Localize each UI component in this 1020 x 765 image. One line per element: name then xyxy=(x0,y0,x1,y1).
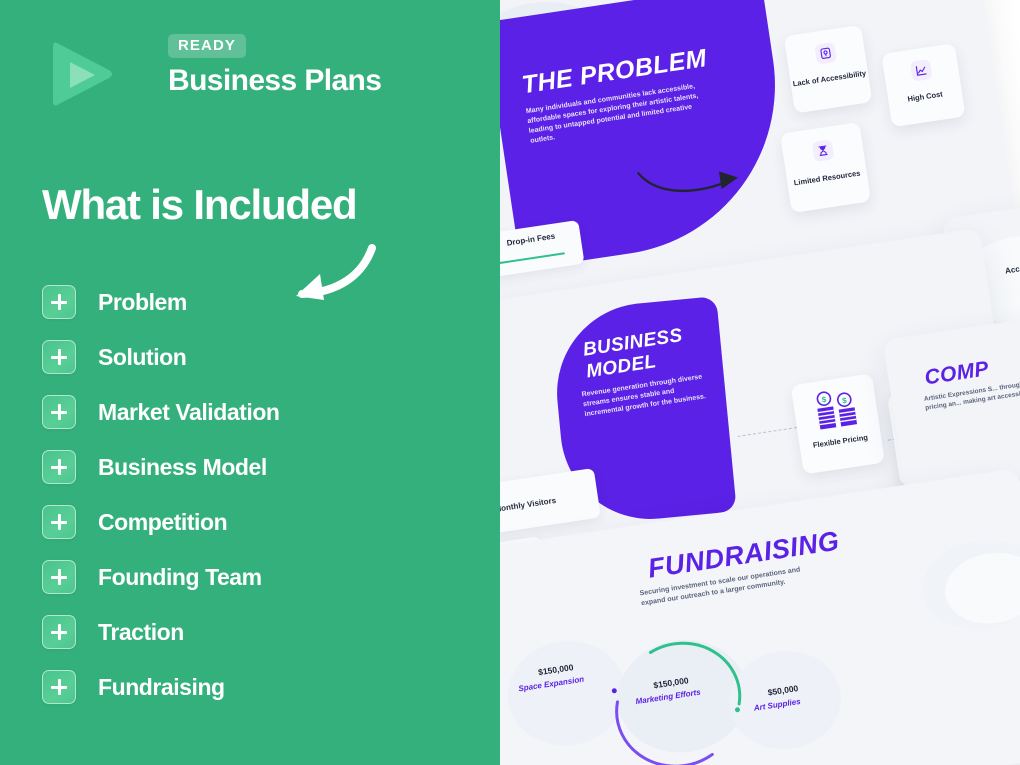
line-chart-icon xyxy=(910,59,933,82)
plus-icon xyxy=(42,340,76,374)
plus-icon xyxy=(42,560,76,594)
play-triangle-icon xyxy=(46,38,116,110)
plus-icon xyxy=(42,285,76,319)
list-item[interactable]: Competition xyxy=(42,502,462,542)
list-item-label: Traction xyxy=(98,619,184,646)
brand-title: Business Plans xyxy=(168,65,381,97)
connector-dashed-line xyxy=(737,427,796,437)
plus-icon xyxy=(42,615,76,649)
mini-card-limited-resources[interactable]: Limited Resources xyxy=(780,122,871,213)
list-item-label: Problem xyxy=(98,289,187,316)
bar-card-label: Monthly Visitors xyxy=(500,496,557,514)
list-item[interactable]: Fundraising xyxy=(42,667,462,707)
brand-text-block: READY Business Plans xyxy=(168,34,381,96)
svg-text:$: $ xyxy=(842,396,848,406)
list-item[interactable]: Traction xyxy=(42,612,462,652)
list-item[interactable]: Solution xyxy=(42,337,462,377)
bar-card-label: Drop-in Fees xyxy=(506,232,556,248)
mini-card-flexible-pricing[interactable]: $ $ Flexible Pricing xyxy=(791,373,885,474)
list-item[interactable]: Business Model xyxy=(42,447,462,487)
list-item-label: Fundraising xyxy=(98,674,225,701)
plus-icon xyxy=(42,395,76,429)
ready-badge: READY xyxy=(168,34,246,58)
list-item-label: Business Model xyxy=(98,454,267,481)
plus-icon xyxy=(42,505,76,539)
hourglass-icon xyxy=(812,139,835,162)
list-item-label: Solution xyxy=(98,344,186,371)
list-item-label: Competition xyxy=(98,509,227,536)
mini-card-label: High Cost xyxy=(888,87,963,107)
list-item-label: Founding Team xyxy=(98,564,262,591)
list-item[interactable]: Market Validation xyxy=(42,392,462,432)
plus-icon xyxy=(42,670,76,704)
page-root: READY Business Plans What is Included Pr… xyxy=(0,0,1020,765)
mini-card-lack-of-accessibility[interactable]: Lack of Accessibility xyxy=(784,25,873,114)
plus-icon xyxy=(42,450,76,484)
slide-preview-area: THE PROBLEM Many individuals and communi… xyxy=(500,0,1020,765)
list-item-label: Market Validation xyxy=(98,399,280,426)
list-item[interactable]: Founding Team xyxy=(42,557,462,597)
mini-card-high-cost[interactable]: High Cost xyxy=(881,43,965,127)
lock-document-icon xyxy=(814,42,837,65)
svg-text:$: $ xyxy=(821,395,827,405)
mini-card-label: Limited Resources xyxy=(787,168,868,189)
progress-bar xyxy=(500,252,565,269)
mini-card-label: Lack of Accessibility xyxy=(790,68,869,89)
list-item[interactable]: Problem xyxy=(42,282,462,322)
included-feature-list: Problem Solution Market Validation Busin… xyxy=(42,282,462,722)
page-title: What is Included xyxy=(42,183,356,227)
left-green-panel: READY Business Plans What is Included Pr… xyxy=(0,0,500,765)
money-bars-icon: $ $ xyxy=(812,386,862,439)
